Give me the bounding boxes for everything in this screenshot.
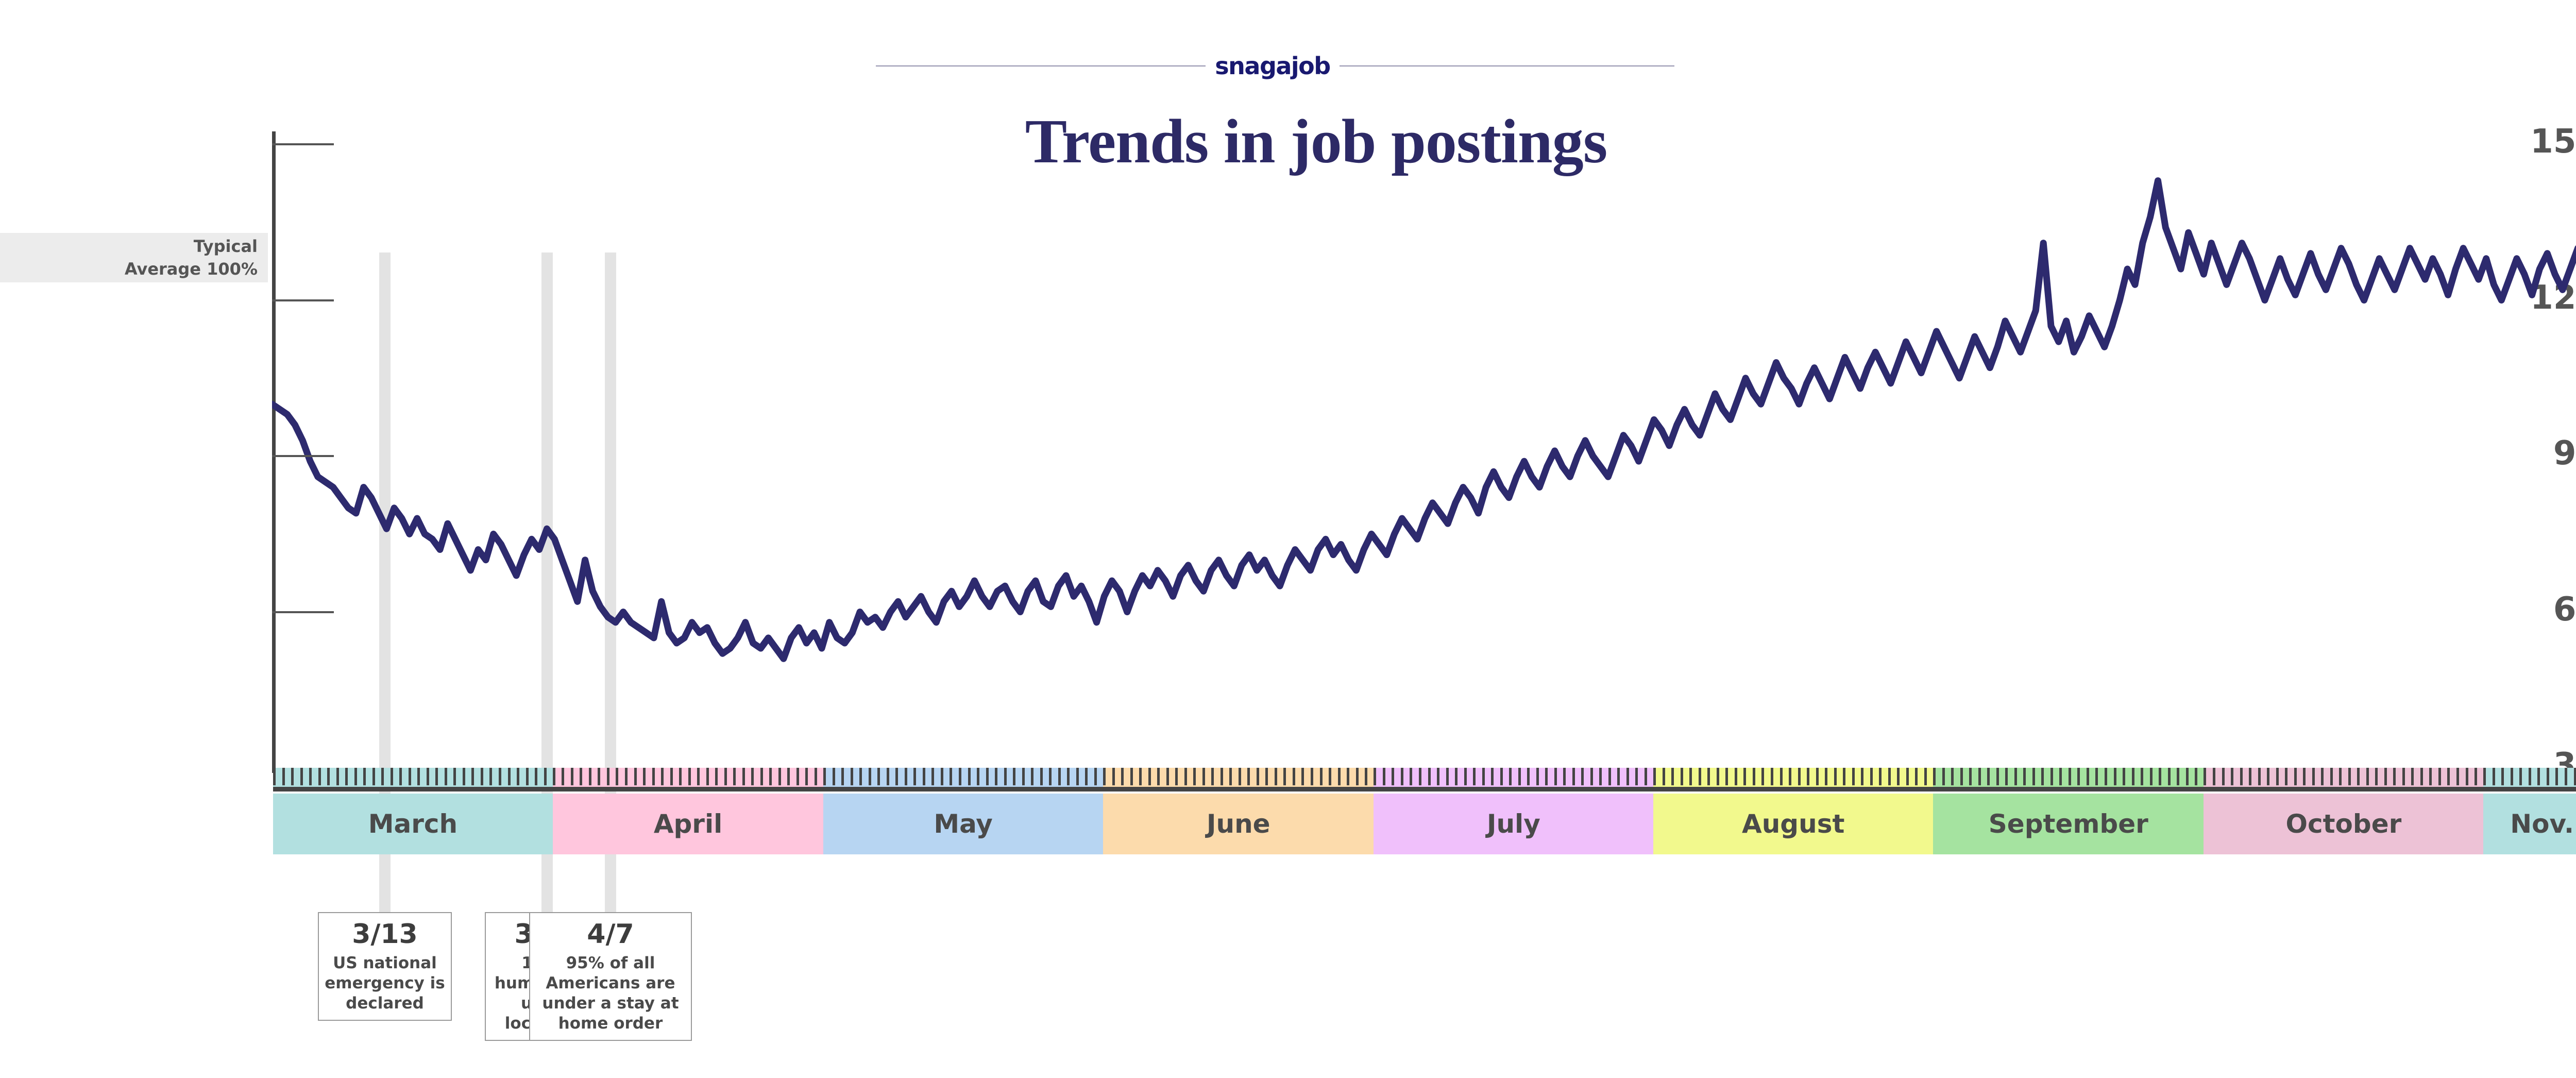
day-tick	[1978, 768, 1981, 785]
day-tick	[435, 768, 438, 785]
typical-label-line1: Typical	[0, 235, 258, 258]
day-tick	[2222, 768, 2225, 785]
day-tick	[1482, 768, 1485, 785]
day-tick	[941, 768, 943, 785]
day-tick	[1247, 768, 1250, 785]
annotation-date: 3/13	[323, 918, 446, 950]
day-tick	[427, 768, 429, 785]
day-tick	[869, 768, 871, 785]
day-tick	[535, 768, 537, 785]
day-tick	[1320, 768, 1323, 785]
day-tick	[2547, 768, 2549, 785]
day-tick	[1951, 768, 1954, 785]
ruler-segment-may	[823, 768, 1103, 787]
month-label-may[interactable]: May	[823, 794, 1103, 854]
brand-rule-right	[1340, 65, 1674, 66]
day-tick	[923, 768, 925, 785]
day-tick	[2475, 768, 2477, 785]
day-tick	[1699, 768, 1701, 785]
day-tick	[354, 768, 357, 785]
day-tick	[661, 768, 664, 785]
day-tick	[1257, 768, 1259, 785]
day-tick	[1888, 768, 1891, 785]
day-tick	[1040, 768, 1043, 785]
day-tick	[1166, 768, 1169, 785]
day-tick	[489, 768, 492, 785]
day-tick	[2420, 768, 2423, 785]
month-label-july[interactable]: July	[1374, 794, 1653, 854]
day-tick	[1446, 768, 1449, 785]
day-tick	[841, 768, 844, 785]
day-tick	[381, 768, 384, 785]
day-tick	[1960, 768, 1963, 785]
gridline-120	[272, 299, 334, 301]
annotation-card-4-7[interactable]: 4/795% of all Americans are under a stay…	[529, 912, 692, 1041]
day-tick	[463, 768, 465, 785]
day-tick	[2123, 768, 2125, 785]
day-tick	[1743, 768, 1746, 785]
day-tick	[1536, 768, 1539, 785]
day-ruler-strip	[273, 768, 2576, 791]
day-tick	[2511, 768, 2513, 785]
ruler-segment-march	[273, 768, 553, 787]
day-tick	[273, 768, 276, 785]
day-tick	[2501, 768, 2504, 785]
day-tick	[931, 768, 934, 785]
day-tick	[1329, 768, 1331, 785]
day-tick	[2213, 768, 2215, 785]
day-tick	[652, 768, 655, 785]
day-tick	[2565, 768, 2567, 785]
day-tick	[2537, 768, 2540, 785]
day-tick	[1094, 768, 1097, 785]
day-tick	[1464, 768, 1467, 785]
day-tick	[499, 768, 501, 785]
day-tick	[895, 768, 898, 785]
day-tick	[751, 768, 754, 785]
day-tick	[345, 768, 348, 785]
day-tick	[2375, 768, 2378, 785]
day-tick	[2312, 768, 2315, 785]
day-tick	[2348, 768, 2351, 785]
day-tick	[1410, 768, 1412, 785]
day-tick	[2258, 768, 2261, 785]
day-tick	[950, 768, 952, 785]
gridline-60	[272, 611, 334, 613]
day-tick	[1563, 768, 1566, 785]
ruler-segment-september	[1933, 768, 2204, 787]
day-tick	[336, 768, 339, 785]
day-tick	[1527, 768, 1530, 785]
day-tick	[598, 768, 600, 785]
day-tick	[2402, 768, 2405, 785]
day-tick	[959, 768, 961, 785]
day-tick	[1121, 768, 1124, 785]
ruler-segment-nov	[2483, 768, 2576, 787]
day-tick	[2095, 768, 2098, 785]
day-tick	[1635, 768, 1638, 785]
day-tick	[2303, 768, 2306, 785]
day-tick	[2231, 768, 2233, 785]
day-tick	[327, 768, 330, 785]
day-tick	[1067, 768, 1070, 785]
day-tick	[1193, 768, 1196, 785]
day-tick	[1202, 768, 1205, 785]
day-tick	[706, 768, 709, 785]
day-tick	[1383, 768, 1385, 785]
brand-header: snagajob	[0, 49, 2576, 82]
day-tick	[2249, 768, 2251, 785]
day-tick	[1599, 768, 1602, 785]
day-tick	[1879, 768, 1882, 785]
day-tick	[1229, 768, 1232, 785]
day-tick	[562, 768, 564, 785]
day-tick	[2456, 768, 2459, 785]
day-tick	[2366, 768, 2369, 785]
day-tick	[1969, 768, 1972, 785]
day-tick	[2186, 768, 2189, 785]
day-tick	[905, 768, 907, 785]
day-tick	[913, 768, 916, 785]
day-tick	[2555, 768, 2558, 785]
day-tick	[2159, 768, 2161, 785]
day-tick	[1211, 768, 1214, 785]
snagajob-logo: snagajob	[1206, 49, 1340, 82]
day-tick	[2384, 768, 2387, 785]
day-tick	[2574, 768, 2576, 785]
month-label-october[interactable]: October	[2204, 794, 2483, 854]
day-tick	[2429, 768, 2432, 785]
day-tick	[851, 768, 853, 785]
day-tick	[1428, 768, 1431, 785]
day-tick	[2330, 768, 2333, 785]
annotation-text: US national emergency is declared	[323, 953, 446, 1014]
day-tick	[2168, 768, 2171, 785]
day-tick	[1455, 768, 1458, 785]
day-tick	[1581, 768, 1584, 785]
day-tick	[282, 768, 285, 785]
day-tick	[1157, 768, 1160, 785]
day-tick	[724, 768, 727, 785]
day-tick	[1861, 768, 1863, 785]
day-tick	[471, 768, 474, 785]
day-tick	[1554, 768, 1557, 785]
day-tick	[1870, 768, 1873, 785]
day-tick	[309, 768, 312, 785]
day-tick	[1148, 768, 1151, 785]
day-tick	[1518, 768, 1521, 785]
day-tick	[2204, 768, 2206, 785]
day-tick	[1717, 768, 1719, 785]
day-tick	[1509, 768, 1512, 785]
day-tick	[2041, 768, 2044, 785]
brand-rule-left	[876, 65, 1206, 66]
annotation-text: 95% of all Americans are under a stay at…	[534, 953, 687, 1034]
day-tick	[1681, 768, 1683, 785]
day-tick	[580, 768, 582, 785]
day-tick	[2267, 768, 2269, 785]
day-tick	[2483, 768, 2486, 785]
day-tick	[1401, 768, 1403, 785]
gridline-150	[272, 143, 334, 145]
day-tick	[1897, 768, 1900, 785]
day-tick	[2059, 768, 2062, 785]
day-tick	[2240, 768, 2243, 785]
ruler-segment-october	[2204, 768, 2483, 787]
day-tick	[372, 768, 375, 785]
day-tick	[1347, 768, 1349, 785]
job-postings-series	[272, 181, 2576, 659]
day-tick	[1301, 768, 1304, 785]
day-tick	[796, 768, 799, 785]
day-tick	[968, 768, 971, 785]
day-tick	[2150, 768, 2153, 785]
day-tick	[2447, 768, 2450, 785]
day-tick	[2321, 768, 2324, 785]
day-tick	[877, 768, 880, 785]
day-tick	[679, 768, 682, 785]
day-tick	[634, 768, 637, 785]
day-tick	[1419, 768, 1421, 785]
day-tick	[607, 768, 609, 785]
day-tick	[1924, 768, 1927, 785]
day-tick	[1049, 768, 1052, 785]
day-tick	[1058, 768, 1061, 785]
day-tick	[1437, 768, 1439, 785]
month-band: MarchAprilMayJuneJulyAugustSeptemberOcto…	[273, 794, 2576, 854]
day-tick	[815, 768, 817, 785]
day-tick	[1013, 768, 1015, 785]
day-tick	[571, 768, 573, 785]
ruler-segment-july	[1374, 768, 1653, 787]
day-tick	[697, 768, 700, 785]
day-tick	[688, 768, 691, 785]
day-tick	[1004, 768, 1007, 785]
day-tick	[1996, 768, 1999, 785]
day-tick	[481, 768, 483, 785]
day-tick	[1311, 768, 1313, 785]
day-tick	[1022, 768, 1025, 785]
day-tick	[805, 768, 808, 785]
gridline-90	[272, 455, 334, 457]
day-tick	[544, 768, 547, 785]
day-tick	[1789, 768, 1791, 785]
day-tick	[1608, 768, 1611, 785]
day-tick	[2077, 768, 2080, 785]
day-tick	[1112, 768, 1115, 785]
day-tick	[1590, 768, 1593, 785]
month-label-september[interactable]: September	[1933, 794, 2204, 854]
day-tick	[1293, 768, 1295, 785]
day-tick	[1221, 768, 1223, 785]
day-tick	[1852, 768, 1855, 785]
day-tick	[833, 768, 835, 785]
day-tick	[1906, 768, 1909, 785]
day-tick	[1130, 768, 1133, 785]
day-tick	[1780, 768, 1783, 785]
day-tick	[1617, 768, 1620, 785]
day-tick	[2014, 768, 2017, 785]
day-tick	[318, 768, 321, 785]
annotation-card-3-13[interactable]: 3/13US national emergency is declared	[318, 912, 451, 1021]
day-tick	[1031, 768, 1033, 785]
day-tick	[769, 768, 772, 785]
day-tick	[1103, 768, 1106, 785]
month-label-june[interactable]: June	[1103, 794, 1374, 854]
day-tick	[1645, 768, 1647, 785]
day-tick	[363, 768, 366, 785]
day-tick	[670, 768, 673, 785]
day-tick	[787, 768, 790, 785]
day-tick	[1725, 768, 1728, 785]
day-tick	[2105, 768, 2107, 785]
day-tick	[1365, 768, 1367, 785]
day-tick	[1283, 768, 1286, 785]
day-tick	[859, 768, 862, 785]
day-tick	[517, 768, 519, 785]
month-label-march[interactable]: March	[273, 794, 553, 854]
day-tick	[1825, 768, 1827, 785]
day-tick	[1545, 768, 1548, 785]
day-tick	[1653, 768, 1656, 785]
day-tick	[1085, 768, 1088, 785]
month-label-april[interactable]: April	[553, 794, 823, 854]
typical-average-label: Typical Average 100%	[0, 235, 258, 280]
day-tick	[1374, 768, 1376, 785]
day-tick	[823, 768, 826, 785]
day-tick	[1798, 768, 1801, 785]
annotation-date: 4/7	[534, 918, 687, 950]
day-tick	[625, 768, 628, 785]
day-tick	[417, 768, 420, 785]
day-tick	[526, 768, 529, 785]
day-tick	[445, 768, 447, 785]
day-tick	[1392, 768, 1394, 785]
day-tick	[2023, 768, 2026, 785]
day-tick	[2519, 768, 2522, 785]
day-tick	[2285, 768, 2287, 785]
day-tick	[2141, 768, 2143, 785]
day-tick	[1816, 768, 1819, 785]
ruler-segment-august	[1653, 768, 1933, 787]
day-tick	[1139, 768, 1142, 785]
day-tick	[715, 768, 718, 785]
day-tick	[1671, 768, 1674, 785]
day-tick	[409, 768, 411, 785]
day-tick	[995, 768, 997, 785]
day-tick	[2466, 768, 2468, 785]
day-tick	[2114, 768, 2116, 785]
day-tick	[1987, 768, 1990, 785]
day-tick	[2411, 768, 2414, 785]
day-tick	[2177, 768, 2179, 785]
day-tick	[2357, 768, 2360, 785]
day-tick	[1735, 768, 1737, 785]
day-tick	[2132, 768, 2134, 785]
line-chart-plot	[272, 131, 2576, 770]
day-tick	[742, 768, 745, 785]
day-tick	[977, 768, 979, 785]
day-tick	[2069, 768, 2071, 785]
day-tick	[1663, 768, 1665, 785]
day-tick	[616, 768, 618, 785]
day-tick	[1626, 768, 1629, 785]
day-tick	[2195, 768, 2197, 785]
day-tick	[643, 768, 646, 785]
day-tick	[1915, 768, 1918, 785]
day-tick	[1239, 768, 1241, 785]
ruler-segment-june	[1103, 768, 1374, 787]
day-tick	[2050, 768, 2053, 785]
day-tick	[2438, 768, 2441, 785]
day-tick	[1753, 768, 1755, 785]
day-tick	[453, 768, 456, 785]
day-tick	[553, 768, 555, 785]
day-tick	[2339, 768, 2342, 785]
day-tick	[1275, 768, 1277, 785]
day-tick	[2087, 768, 2089, 785]
day-tick	[1771, 768, 1773, 785]
day-tick	[2005, 768, 2008, 785]
day-tick	[1689, 768, 1692, 785]
day-tick	[1491, 768, 1494, 785]
day-tick	[778, 768, 781, 785]
day-tick	[1933, 768, 1936, 785]
day-tick	[2529, 768, 2531, 785]
day-tick	[2276, 768, 2279, 785]
day-tick	[1338, 768, 1341, 785]
day-tick	[1473, 768, 1476, 785]
month-label-nov[interactable]: Nov.	[2483, 794, 2576, 854]
day-tick	[1834, 768, 1837, 785]
day-tick	[589, 768, 591, 785]
day-tick	[1843, 768, 1845, 785]
day-tick	[1076, 768, 1079, 785]
day-tick	[1500, 768, 1503, 785]
day-tick	[1356, 768, 1359, 785]
day-tick	[2493, 768, 2495, 785]
day-tick	[1707, 768, 1710, 785]
ruler-segment-april	[553, 768, 823, 787]
day-tick	[2393, 768, 2396, 785]
day-tick	[2032, 768, 2035, 785]
day-tick	[1175, 768, 1178, 785]
day-tick	[399, 768, 402, 785]
day-tick	[1265, 768, 1268, 785]
day-tick	[1184, 768, 1187, 785]
month-label-august[interactable]: August	[1653, 794, 1933, 854]
day-tick	[1807, 768, 1809, 785]
day-tick	[300, 768, 303, 785]
day-tick	[508, 768, 511, 785]
day-tick	[1761, 768, 1764, 785]
typical-label-line2: Average 100%	[0, 258, 258, 280]
day-tick	[2294, 768, 2297, 785]
day-tick	[291, 768, 294, 785]
day-tick	[391, 768, 393, 785]
day-tick	[1942, 768, 1945, 785]
day-tick	[1572, 768, 1575, 785]
day-tick	[760, 768, 763, 785]
day-tick	[733, 768, 736, 785]
day-tick	[887, 768, 889, 785]
day-tick	[986, 768, 989, 785]
